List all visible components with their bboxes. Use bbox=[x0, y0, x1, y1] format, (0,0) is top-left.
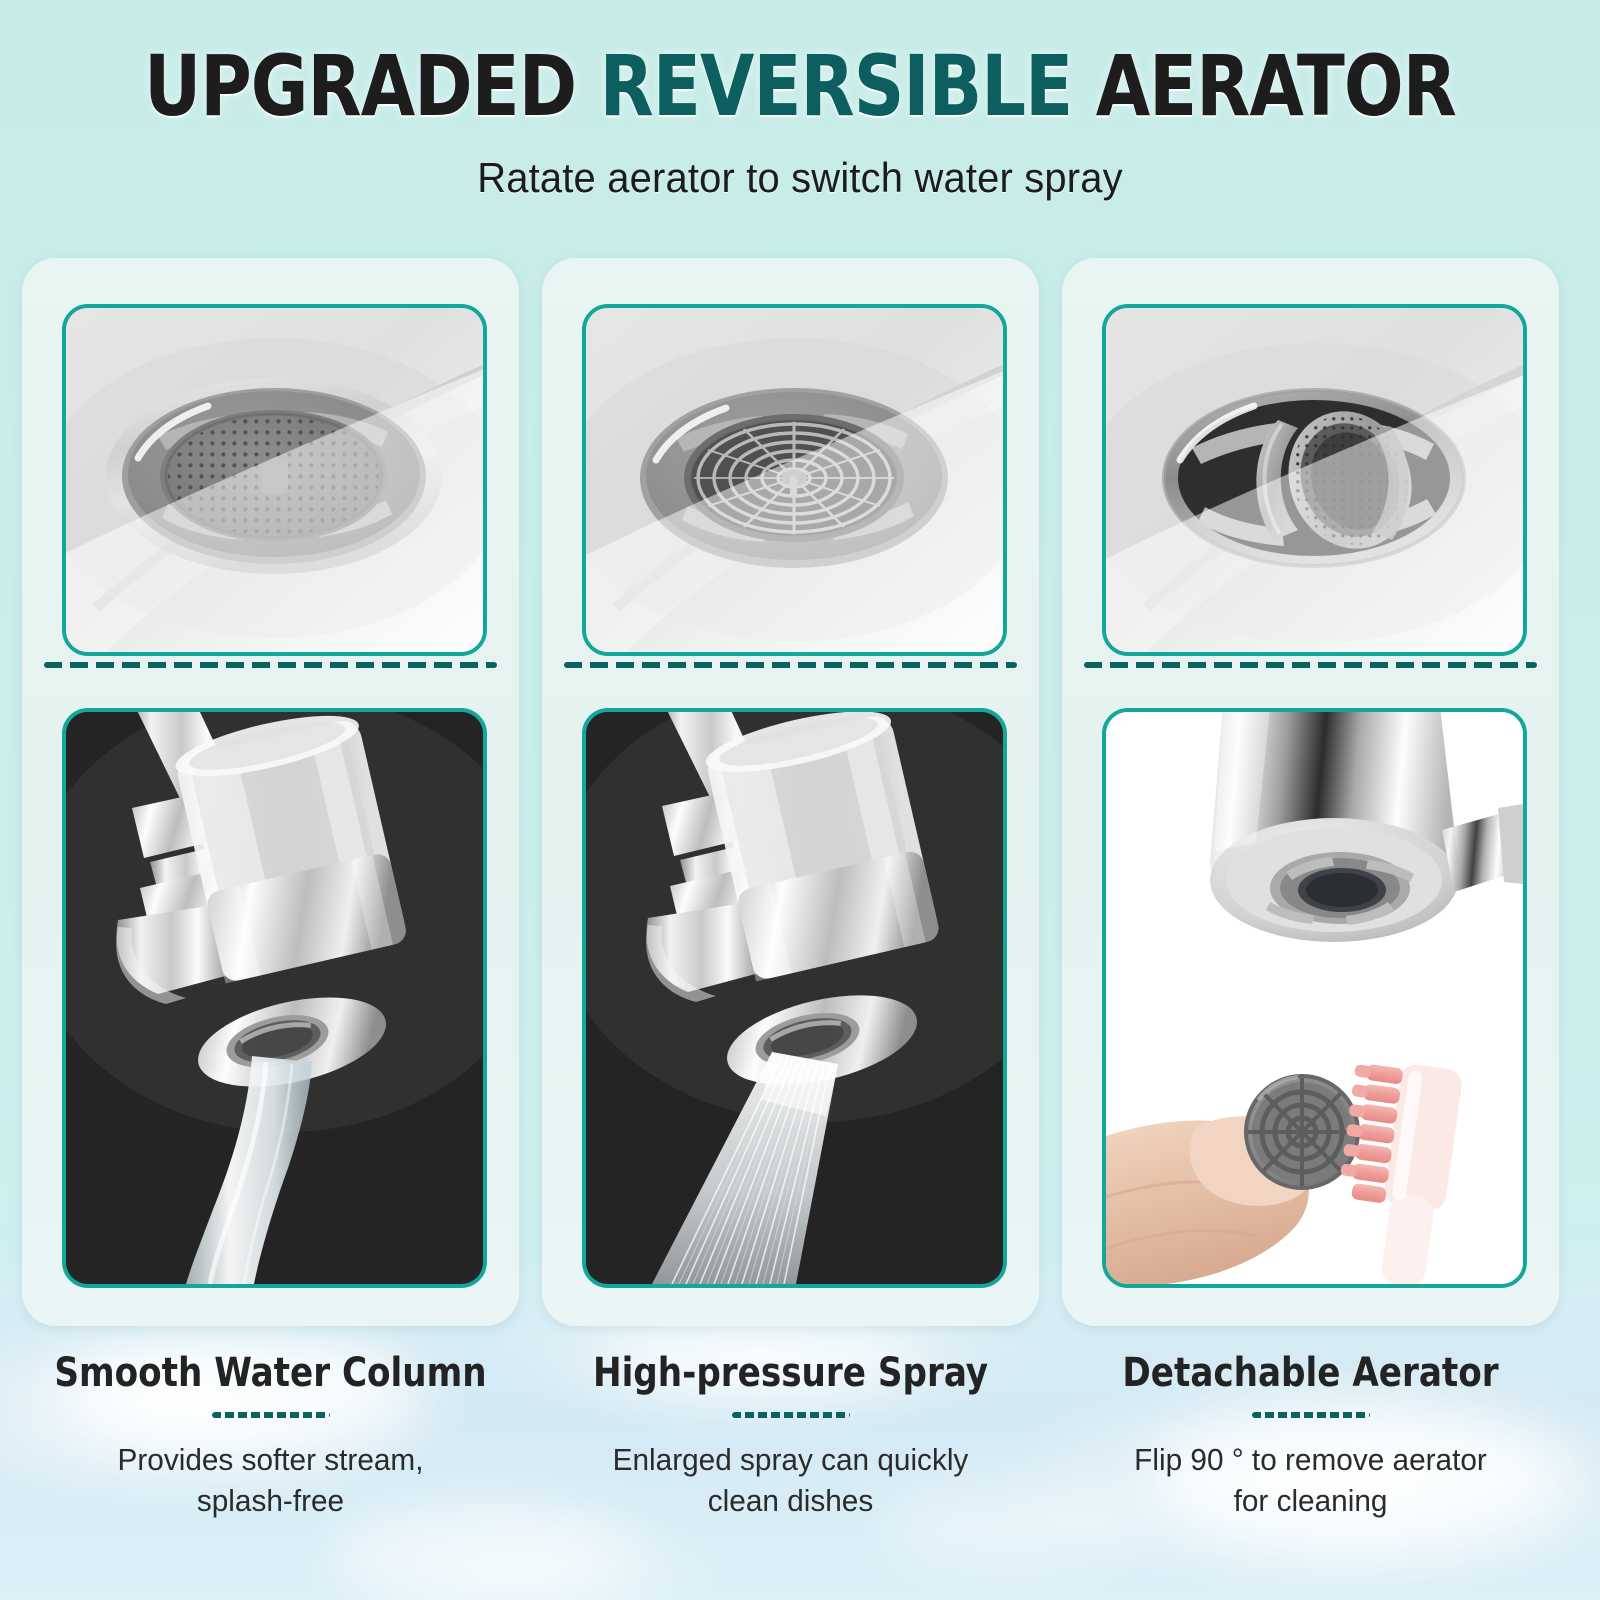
caption-title: Detachable Aerator bbox=[1074, 1352, 1546, 1394]
caption-description: Provides softer stream, splash-free bbox=[32, 1440, 509, 1522]
page-title: UPGRADED REVERSIBLE AERATOR bbox=[56, 0, 1544, 128]
aerator-face-perforated-mesh-image bbox=[62, 304, 487, 656]
faucet-high-pressure-spray-image bbox=[582, 708, 1007, 1288]
hand-holding-aerator-disc-with-brush-icon bbox=[1106, 712, 1523, 1284]
caption-description: Flip 90 ° to remove aerator for cleaning bbox=[1072, 1440, 1549, 1522]
page-subtitle: Ratate aerator to switch water spray bbox=[40, 128, 1560, 202]
title-part-2: AERATOR bbox=[1072, 37, 1456, 135]
caption-high-pressure-spray: High-pressure Spray Enlarged spray can q… bbox=[542, 1352, 1039, 1522]
panel-divider-dashed bbox=[564, 662, 1017, 668]
aerator-face-radial-grid-icon bbox=[586, 308, 1003, 652]
aerator-face-radial-grid-image bbox=[582, 304, 1007, 656]
caption-description-line-1: Flip 90 ° to remove aerator bbox=[1072, 1440, 1549, 1481]
caption-description-line-2: for cleaning bbox=[1072, 1481, 1549, 1522]
faucet-smooth-water-column-icon bbox=[66, 712, 483, 1284]
panel-divider-dashed bbox=[1084, 662, 1537, 668]
caption-title: Smooth Water Column bbox=[34, 1352, 506, 1394]
caption-smooth-water-column: Smooth Water Column Provides softer stre… bbox=[22, 1352, 519, 1522]
caption-title: High-pressure Spray bbox=[554, 1352, 1026, 1394]
aerator-face-perforated-mesh-icon bbox=[66, 308, 483, 652]
caption-dashed-rule bbox=[212, 1412, 330, 1418]
caption-description-line-1: Provides softer stream, bbox=[32, 1440, 509, 1481]
feature-panel-detachable-aerator bbox=[1062, 258, 1559, 1326]
hand-holding-aerator-disc-with-brush-image bbox=[1102, 708, 1527, 1288]
caption-dashed-rule bbox=[1252, 1412, 1370, 1418]
faucet-high-pressure-spray-icon bbox=[586, 712, 1003, 1284]
caption-detachable-aerator: Detachable Aerator Flip 90 ° to remove a… bbox=[1062, 1352, 1559, 1522]
aerator-flipped-open-icon bbox=[1106, 308, 1523, 652]
caption-description-line-2: clean dishes bbox=[552, 1481, 1029, 1522]
title-part-1: UPGRADED bbox=[144, 37, 600, 135]
aerator-flipped-open-image bbox=[1102, 304, 1527, 656]
header: UPGRADED REVERSIBLE AERATOR Ratate aerat… bbox=[0, 0, 1600, 202]
title-highlight: REVERSIBLE bbox=[600, 37, 1073, 135]
caption-description-line-1: Enlarged spray can quickly bbox=[552, 1440, 1029, 1481]
faucet-smooth-water-column-image bbox=[62, 708, 487, 1288]
caption-description: Enlarged spray can quickly clean dishes bbox=[552, 1440, 1029, 1522]
caption-description-line-2: splash-free bbox=[32, 1481, 509, 1522]
caption-dashed-rule bbox=[732, 1412, 850, 1418]
feature-panel-smooth-water-column bbox=[22, 258, 519, 1326]
panel-divider-dashed bbox=[44, 662, 497, 668]
feature-panel-high-pressure-spray bbox=[542, 258, 1039, 1326]
